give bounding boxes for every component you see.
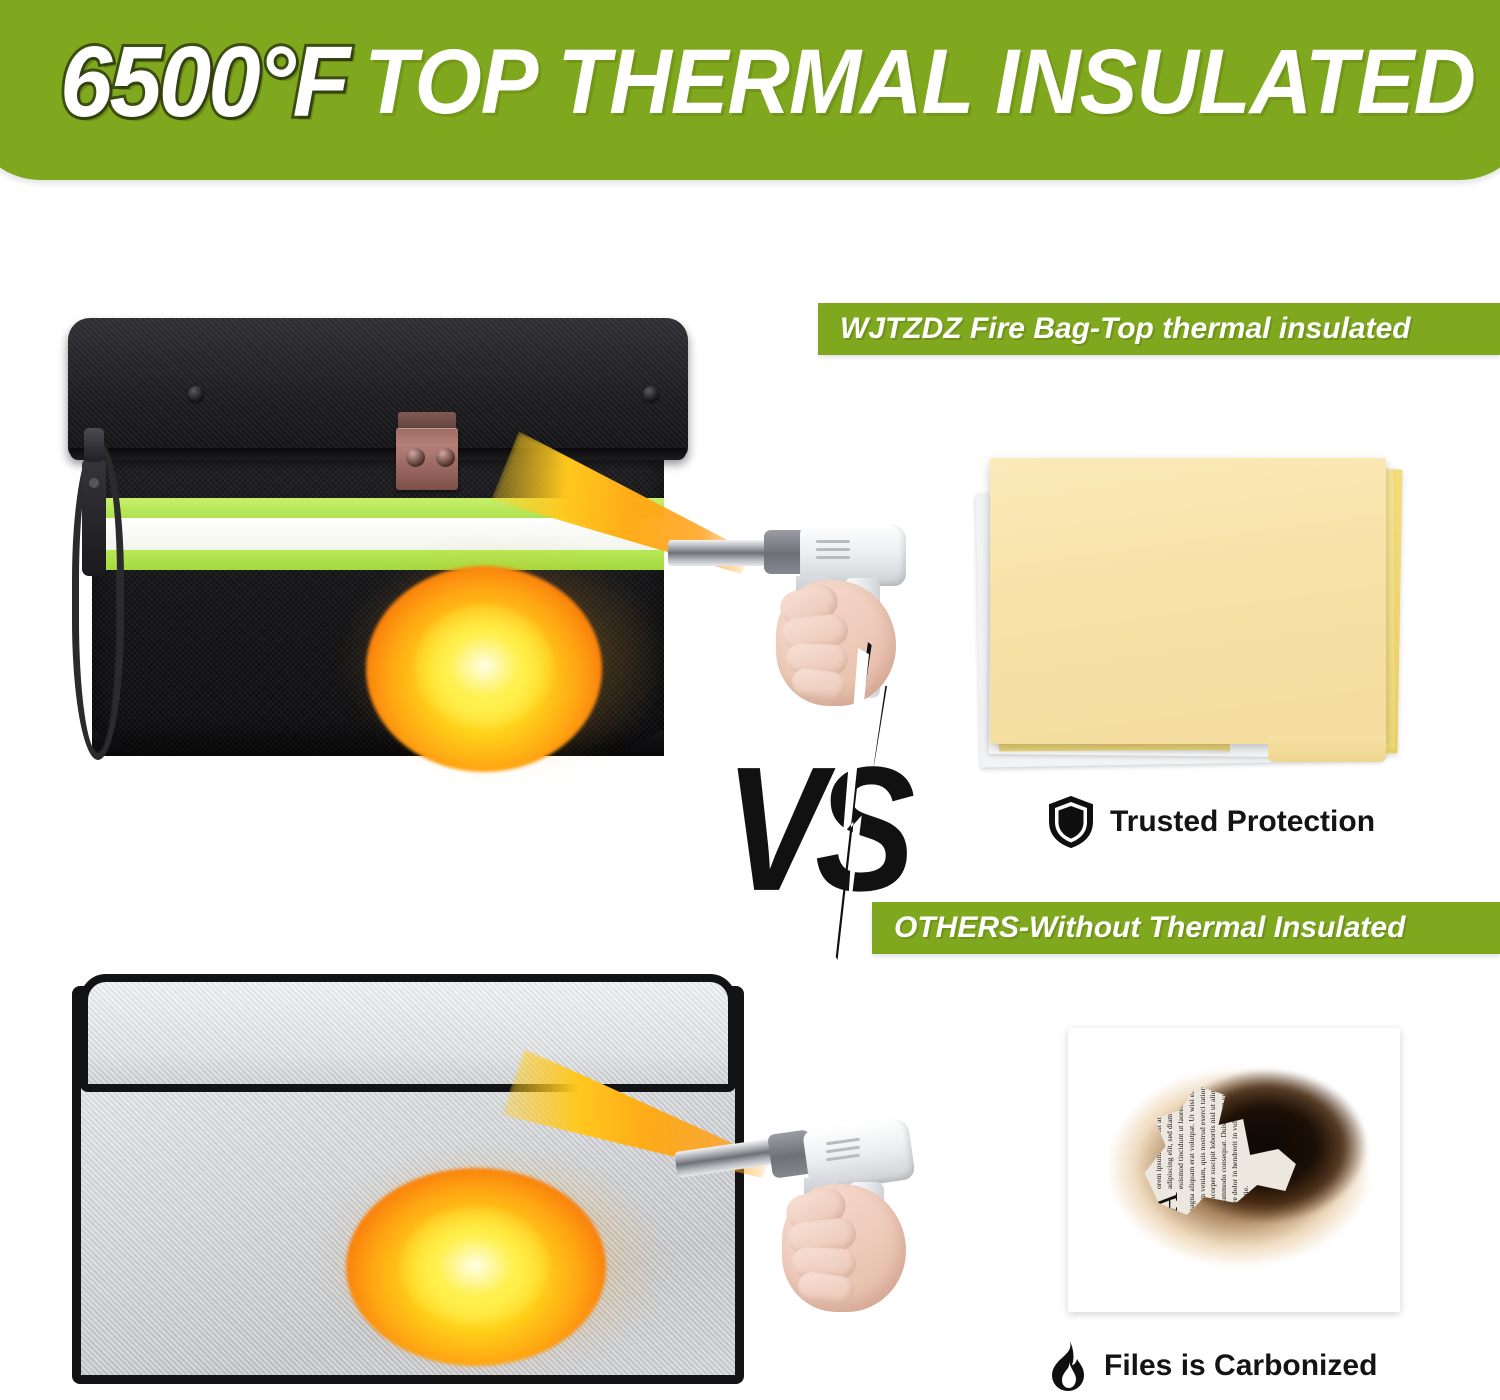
lock-button-right <box>436 448 455 467</box>
page-title: 6500°F TOP THERMAL INSULATED <box>60 22 1414 142</box>
reflective-stripe-top <box>92 498 664 518</box>
burned-document-photo: A orem ipsum dolor sit amet, consectetue… <box>1068 1028 1400 1312</box>
wrist-strap-tab <box>82 458 106 576</box>
bag-flap <box>68 318 688 458</box>
header-subtitle: TOP THERMAL INSULATED <box>364 36 1475 128</box>
snap-button-left <box>188 386 204 402</box>
trusted-protection-label: Trusted Protection <box>1110 805 1375 839</box>
bag-flap <box>80 974 736 1092</box>
files-carbonized-label: Files is Carbonized <box>1104 1349 1377 1383</box>
wrist-strap-clip <box>84 428 104 462</box>
butane-torch-bottom <box>676 1104 944 1334</box>
torch-vent <box>816 556 850 559</box>
bag-flap-edge <box>70 448 686 460</box>
intact-documents-photo <box>968 436 1412 788</box>
vs-graphic: VS <box>715 630 935 950</box>
badge-good-label: WJTZDZ Fire Bag-Top thermal insulated <box>840 312 1411 346</box>
badge-bad-product: OTHERS-Without Thermal Insulated <box>872 902 1500 954</box>
caption-files-carbonized: Files is Carbonized <box>1048 1340 1377 1392</box>
flame-icon <box>1048 1340 1088 1392</box>
torch-vent <box>816 548 850 551</box>
wrist-strap-rivet <box>89 478 99 488</box>
badge-bad-label: OTHERS-Without Thermal Insulated <box>894 911 1405 945</box>
reflective-stripe-white <box>92 518 664 550</box>
manila-folder <box>990 458 1386 744</box>
vs-label: VS <box>725 740 905 917</box>
caption-trusted-protection: Trusted Protection <box>1048 796 1375 848</box>
temperature-value: 6500°F <box>60 32 347 132</box>
torch-vent <box>816 540 850 543</box>
silver-fireproof-bag-photo <box>58 962 758 1392</box>
folder-tab <box>1268 736 1386 762</box>
black-fireproof-bag-photo <box>48 312 708 792</box>
shield-icon <box>1048 796 1094 848</box>
snap-button-right <box>643 386 659 402</box>
lock-button-left <box>406 448 425 467</box>
reflective-stripe-bottom <box>92 550 664 570</box>
badge-good-product: WJTZDZ Fire Bag-Top thermal insulated <box>818 303 1500 355</box>
